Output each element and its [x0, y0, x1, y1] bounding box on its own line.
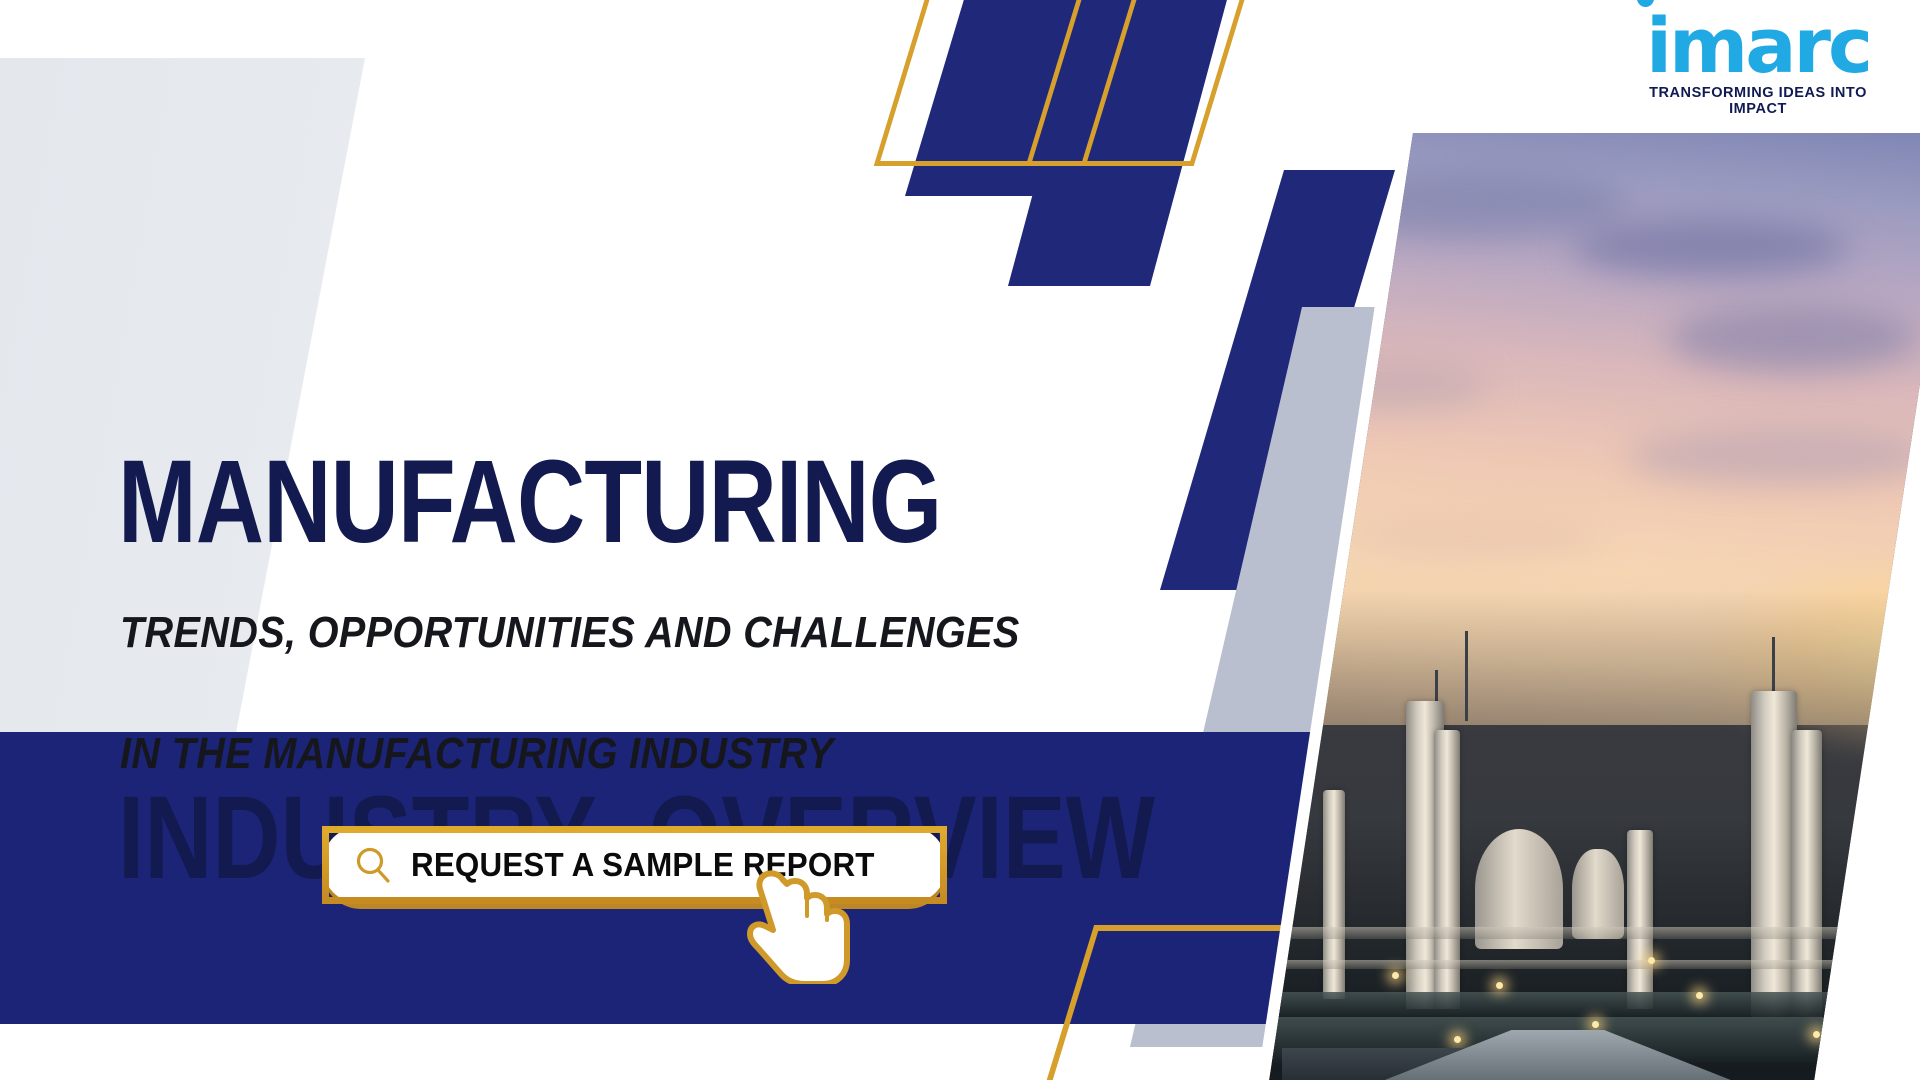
cta-area: REQUEST A SAMPLE REPORT — [322, 826, 962, 946]
hand-pointer-cursor-icon — [747, 866, 852, 984]
photo-plant-structures — [1268, 591, 1920, 1080]
banner-canvas: MANUFACTURING INDUSTRY OVERVIEW TRENDS, … — [0, 0, 1920, 1080]
request-sample-report-button[interactable]: REQUEST A SAMPLE REPORT — [322, 826, 947, 904]
page-subtitle-line-2: IN THE MANUFACTURING INDUSTRY — [120, 724, 1092, 785]
refinery-photo — [1268, 133, 1920, 1080]
magnifier-icon — [353, 845, 393, 885]
page-subtitle-line-1: TRENDS, OPPORTUNITIES AND CHALLENGES — [120, 603, 1092, 664]
logo-wordmark: imarc — [1618, 8, 1898, 84]
page-subtitle: TRENDS, OPPORTUNITIES AND CHALLENGES IN … — [120, 542, 1092, 846]
logo-wordmark-text: imarc — [1646, 1, 1870, 90]
imarc-logo[interactable]: imarc TRANSFORMING IDEAS INTO IMPACT — [1618, 8, 1898, 117]
